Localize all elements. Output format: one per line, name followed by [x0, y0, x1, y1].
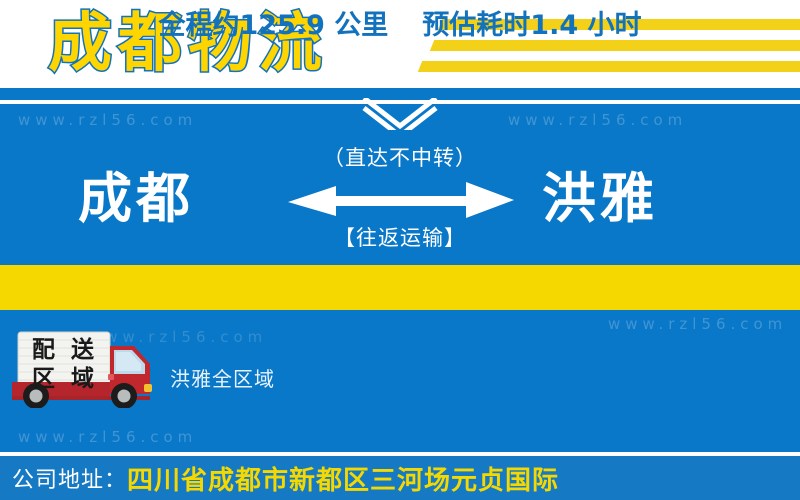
address-value: 四川省成都市新都区三河场元贞国际	[127, 460, 559, 497]
route-note-bottom: 【往返运输】	[292, 222, 508, 252]
route-note-top: （直达不中转）	[292, 142, 508, 172]
decorative-stripe-3	[418, 61, 800, 72]
distance-text: 全程约125.9 公里	[158, 3, 388, 42]
info-band	[0, 265, 800, 310]
company-address: 公司地址： 四川省成都市新都区三河场元贞国际	[12, 456, 559, 500]
bidirectional-arrow-icon	[288, 178, 514, 218]
chevron-down-icon	[362, 96, 438, 130]
truck-label-char-4: 域	[71, 368, 94, 391]
truck-label-char-3: 区	[32, 368, 55, 391]
origin-city: 成都	[78, 168, 194, 230]
logistics-banner: 成都物流 www.rzl56.com www.rzl56.com 成都 洪雅 （…	[0, 0, 800, 500]
address-label: 公司地址：	[12, 462, 127, 494]
truck-label-char-1: 配	[32, 339, 55, 362]
coverage-area-text: 洪雅全区域	[170, 363, 275, 392]
info-band-content: 全程约125.9 公里 预估耗时1.4 小时	[0, 0, 800, 45]
delivery-truck-icon: 配 送 区 域	[8, 330, 158, 408]
truck-label-char-2: 送	[71, 339, 94, 362]
truck-box-label: 配 送 区 域	[24, 336, 102, 394]
duration-text: 预估耗时1.4 小时	[422, 3, 641, 42]
destination-city: 洪雅	[542, 168, 658, 230]
